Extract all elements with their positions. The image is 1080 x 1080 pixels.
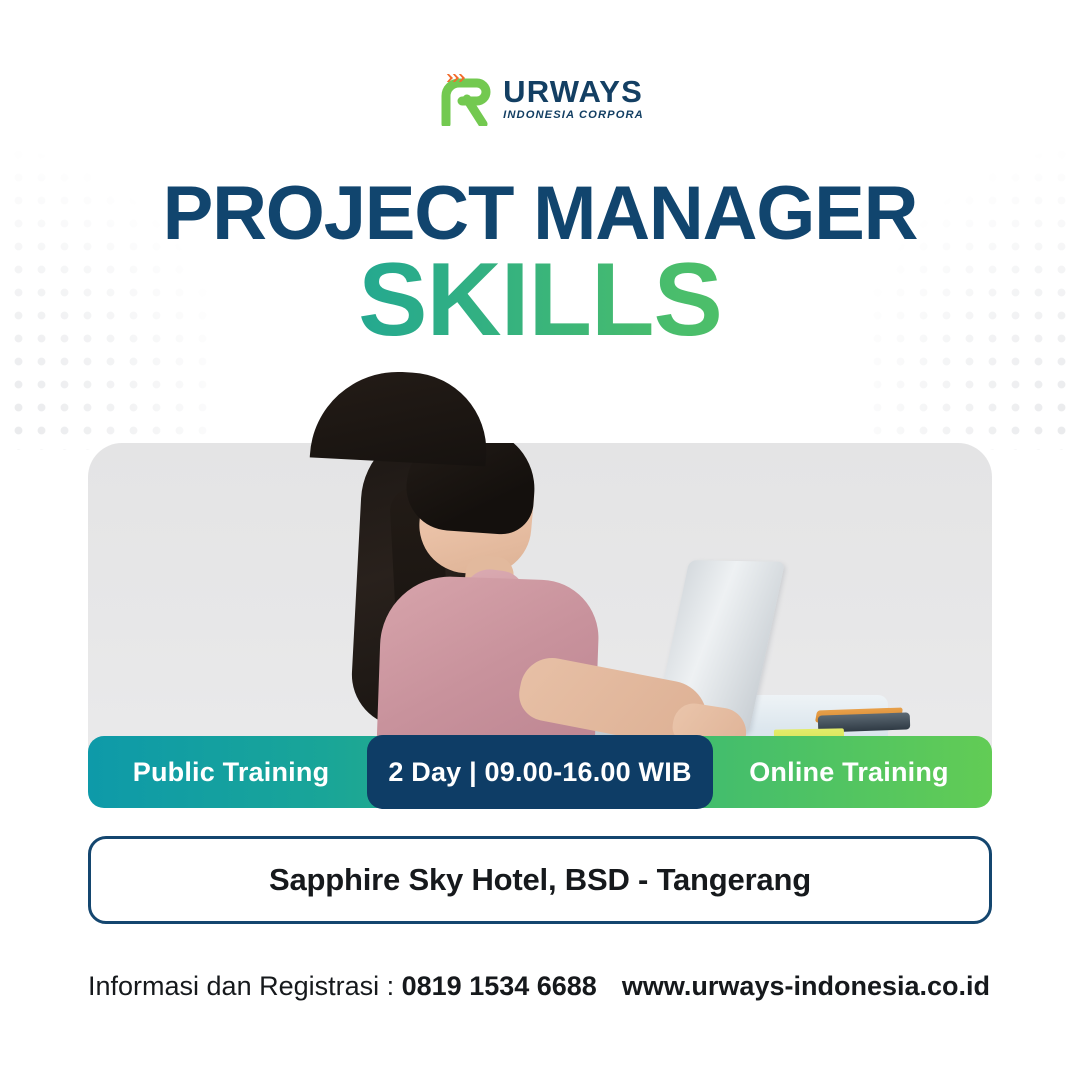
contact-phone[interactable]: 0819 1534 6688 xyxy=(402,971,597,1001)
contact-info: Informasi dan Registrasi : 0819 1534 668… xyxy=(88,971,597,1002)
hero-photo-card xyxy=(88,443,992,773)
website-url[interactable]: www.urways-indonesia.co.id xyxy=(622,971,992,1002)
hair-above-card xyxy=(310,367,490,466)
brand-logo: URWAYS INDONESIA CORPORA xyxy=(0,68,1080,130)
footer: Informasi dan Registrasi : 0819 1534 668… xyxy=(88,965,992,1007)
badge-duration-time: 2 Day | 09.00-16.00 WIB xyxy=(367,735,713,809)
venue-label: Sapphire Sky Hotel, BSD - Tangerang xyxy=(269,862,811,898)
contact-label: Informasi dan Registrasi : xyxy=(88,971,402,1001)
page-subtitle: SKILLS xyxy=(0,248,1080,352)
urways-r-monogram-icon xyxy=(436,72,492,126)
brand-name: URWAYS xyxy=(503,76,644,107)
venue-box: Sapphire Sky Hotel, BSD - Tangerang xyxy=(88,836,992,924)
promo-poster: URWAYS INDONESIA CORPORA PROJECT MANAGER… xyxy=(0,0,1080,1080)
brand-wordmark: URWAYS INDONESIA CORPORA xyxy=(503,76,644,121)
hero-photo-illustration xyxy=(88,443,992,773)
brand-tagline: INDONESIA CORPORA xyxy=(503,110,644,121)
person-photo xyxy=(343,443,673,773)
page-title: PROJECT MANAGER xyxy=(0,176,1080,252)
